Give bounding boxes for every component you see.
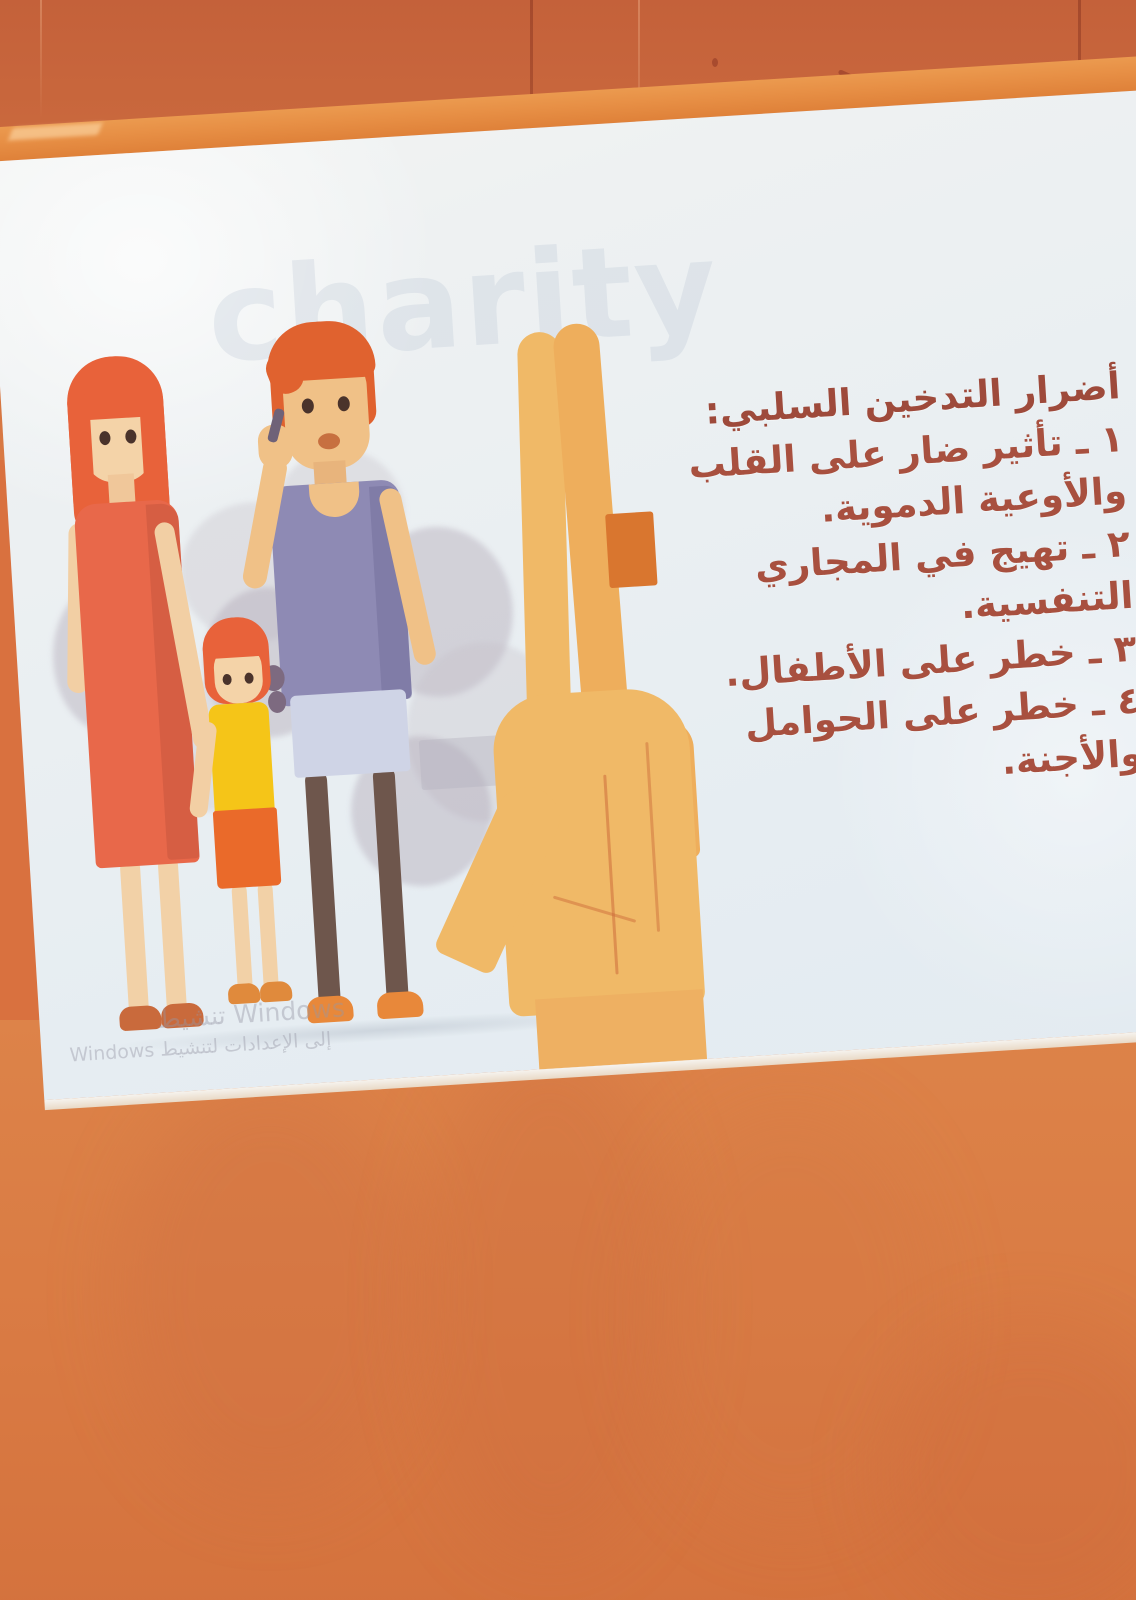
slide-canvas: charity (0, 89, 1136, 1100)
slide-text-block: أضرار التدخين السلبي: ١ ـ تأثير ضار على … (639, 360, 1136, 809)
projection-screen: charity (0, 55, 1136, 1136)
photo-scene: charity (0, 0, 1136, 1600)
